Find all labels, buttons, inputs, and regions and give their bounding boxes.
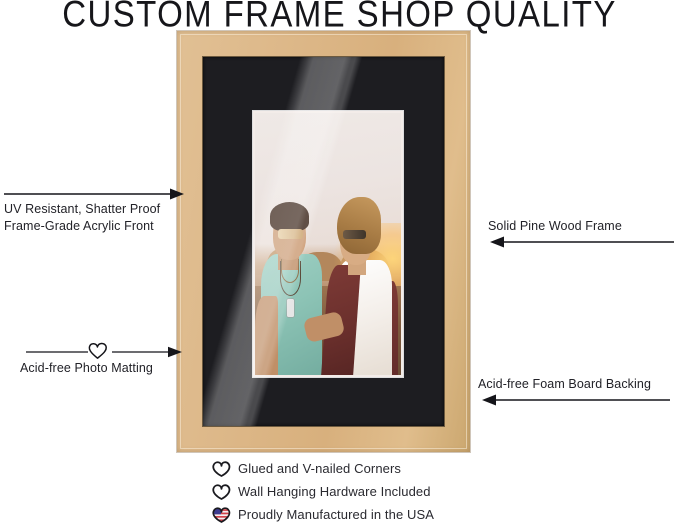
callout-backing-line1: Acid-free Foam Board Backing — [478, 377, 679, 392]
photo-woman-sunglasses — [343, 230, 366, 239]
arrow-left-icon — [488, 235, 678, 249]
heart-outline-icon — [89, 344, 106, 359]
list-item: Wall Hanging Hardware Included — [212, 480, 632, 503]
heart-usa-flag-icon — [212, 506, 238, 524]
photo-mat — [203, 57, 444, 426]
heart-outline-icon — [212, 483, 238, 501]
photo-man-shoulder — [255, 296, 278, 375]
photo-man-sunglasses — [278, 229, 303, 238]
list-item-label: Glued and V-nailed Corners — [238, 461, 401, 476]
list-item-label: Wall Hanging Hardware Included — [238, 484, 431, 499]
callout-acrylic-line2: Frame-Grade Acrylic Front — [4, 219, 186, 234]
callout-matting-line1: Acid-free Photo Matting — [8, 361, 186, 376]
photo-image — [255, 113, 401, 375]
mat-bevel — [253, 111, 403, 377]
heart-outline-icon — [212, 460, 238, 478]
photo-man-hair — [270, 202, 309, 231]
callout-acrylic-line1: UV Resistant, Shatter Proof — [4, 202, 186, 217]
arrow-right-icon — [4, 186, 186, 200]
callout-acrylic-front: UV Resistant, Shatter Proof Frame-Grade … — [4, 186, 186, 233]
infographic-stage: CUSTOM FRAME SHOP QUALITY — [0, 0, 679, 530]
callout-pine-line1: Solid Pine Wood Frame — [488, 219, 678, 234]
list-item-label: Proudly Manufactured in the USA — [238, 507, 434, 522]
picture-frame — [177, 31, 470, 452]
photo-man-chain-necklace — [280, 261, 301, 296]
callout-photo-matting: Acid-free Photo Matting — [8, 340, 186, 376]
photo-woman-hair — [337, 197, 381, 255]
callout-foam-backing: Acid-free Foam Board Backing — [478, 377, 679, 407]
heart-arrow-right-icon — [8, 340, 186, 360]
callout-solid-pine: Solid Pine Wood Frame — [488, 219, 678, 249]
list-item: Proudly Manufactured in the USA — [212, 503, 632, 526]
arrow-left-icon — [478, 393, 679, 407]
feature-list: Glued and V-nailed Corners Wall Hanging … — [212, 457, 632, 526]
photo-man-dogtag — [287, 299, 294, 317]
list-item: Glued and V-nailed Corners — [212, 457, 632, 480]
